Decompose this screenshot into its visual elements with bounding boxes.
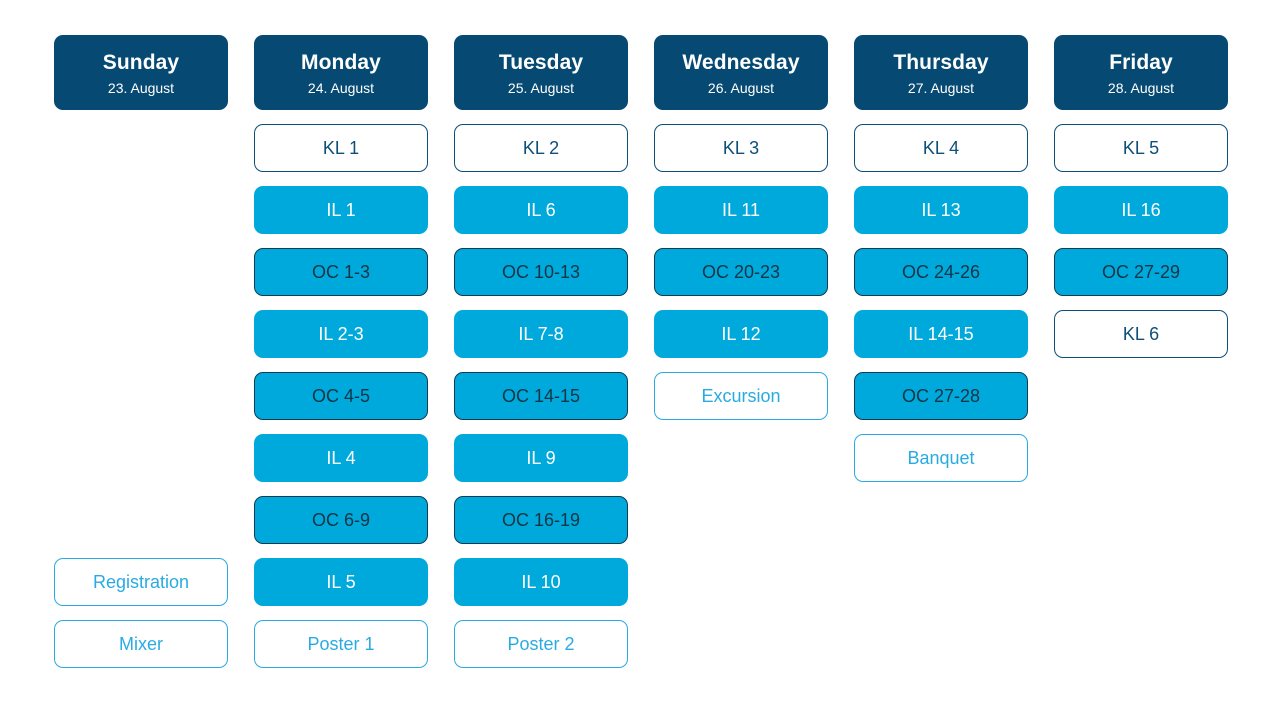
session-box[interactable]: OC 27-28 [854, 372, 1028, 420]
session-box[interactable]: IL 7-8 [454, 310, 628, 358]
session-box[interactable]: KL 2 [454, 124, 628, 172]
session-box[interactable]: Banquet [854, 434, 1028, 482]
day-header-monday[interactable]: Monday24. August [254, 35, 428, 110]
session-box[interactable]: OC 10-13 [454, 248, 628, 296]
day-column-friday: Friday28. AugustKL 5IL 16OC 27-29KL 6 [1054, 35, 1228, 668]
session-box[interactable]: IL 16 [1054, 186, 1228, 234]
session-box[interactable]: KL 4 [854, 124, 1028, 172]
session-box[interactable]: IL 5 [254, 558, 428, 606]
day-sessions: KL 1IL 1OC 1-3IL 2-3OC 4-5IL 4OC 6-9IL 5… [254, 124, 428, 668]
session-box[interactable]: Poster 2 [454, 620, 628, 668]
session-box[interactable]: KL 6 [1054, 310, 1228, 358]
session-box[interactable]: IL 2-3 [254, 310, 428, 358]
day-column-monday: Monday24. AugustKL 1IL 1OC 1-3IL 2-3OC 4… [254, 35, 428, 668]
day-sessions: KL 3IL 11OC 20-23IL 12Excursion [654, 124, 828, 420]
day-date: 23. August [108, 81, 174, 96]
session-box[interactable]: Registration [54, 558, 228, 606]
day-column-sunday: Sunday23. AugustRegistrationMixer [54, 35, 228, 668]
session-box[interactable]: Mixer [54, 620, 228, 668]
day-sessions: RegistrationMixer [54, 124, 228, 668]
day-header-friday[interactable]: Friday28. August [1054, 35, 1228, 110]
session-box[interactable]: KL 1 [254, 124, 428, 172]
session-box[interactable]: OC 24-26 [854, 248, 1028, 296]
day-column-thursday: Thursday27. AugustKL 4IL 13OC 24-26IL 14… [854, 35, 1028, 668]
day-column-tuesday: Tuesday25. AugustKL 2IL 6OC 10-13IL 7-8O… [454, 35, 628, 668]
session-box[interactable]: IL 14-15 [854, 310, 1028, 358]
day-name: Sunday [103, 51, 179, 74]
day-date: 25. August [508, 81, 574, 96]
session-box[interactable]: IL 1 [254, 186, 428, 234]
day-header-sunday[interactable]: Sunday23. August [54, 35, 228, 110]
session-box[interactable]: IL 12 [654, 310, 828, 358]
day-sessions: KL 2IL 6OC 10-13IL 7-8OC 14-15IL 9OC 16-… [454, 124, 628, 668]
session-box[interactable]: KL 5 [1054, 124, 1228, 172]
day-date: 27. August [908, 81, 974, 96]
session-box[interactable]: IL 6 [454, 186, 628, 234]
day-sessions: KL 5IL 16OC 27-29KL 6 [1054, 124, 1228, 358]
session-box[interactable]: OC 6-9 [254, 496, 428, 544]
day-name: Wednesday [682, 51, 799, 74]
day-date: 26. August [708, 81, 774, 96]
session-box[interactable]: OC 4-5 [254, 372, 428, 420]
session-box[interactable]: OC 14-15 [454, 372, 628, 420]
day-date: 28. August [1108, 81, 1174, 96]
session-box[interactable]: Poster 1 [254, 620, 428, 668]
conference-schedule-grid: Sunday23. AugustRegistrationMixerMonday2… [54, 35, 1230, 668]
session-box[interactable]: OC 27-29 [1054, 248, 1228, 296]
day-date: 24. August [308, 81, 374, 96]
session-box[interactable]: Excursion [654, 372, 828, 420]
session-box[interactable]: KL 3 [654, 124, 828, 172]
session-box[interactable]: OC 1-3 [254, 248, 428, 296]
session-box[interactable]: OC 20-23 [654, 248, 828, 296]
session-box[interactable]: IL 11 [654, 186, 828, 234]
day-header-thursday[interactable]: Thursday27. August [854, 35, 1028, 110]
day-name: Tuesday [499, 51, 583, 74]
day-name: Friday [1109, 51, 1173, 74]
session-spacer [54, 124, 228, 544]
day-name: Thursday [893, 51, 988, 74]
day-column-wednesday: Wednesday26. AugustKL 3IL 11OC 20-23IL 1… [654, 35, 828, 668]
session-box[interactable]: IL 9 [454, 434, 628, 482]
day-name: Monday [301, 51, 381, 74]
day-header-wednesday[interactable]: Wednesday26. August [654, 35, 828, 110]
session-box[interactable]: IL 13 [854, 186, 1028, 234]
session-box[interactable]: IL 4 [254, 434, 428, 482]
day-header-tuesday[interactable]: Tuesday25. August [454, 35, 628, 110]
session-box[interactable]: IL 10 [454, 558, 628, 606]
session-box[interactable]: OC 16-19 [454, 496, 628, 544]
day-sessions: KL 4IL 13OC 24-26IL 14-15OC 27-28Banquet [854, 124, 1028, 482]
